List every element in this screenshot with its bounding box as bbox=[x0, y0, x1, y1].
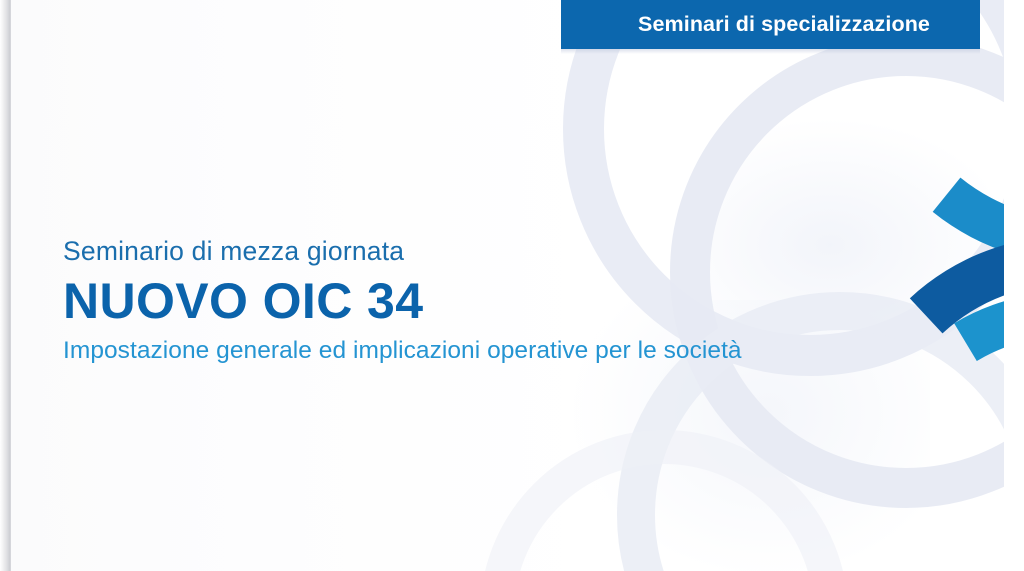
right-outer-margin bbox=[1014, 0, 1024, 571]
page-title: NUOVO OIC 34 bbox=[63, 274, 742, 328]
page-subtitle: Impostazione generale ed implicazioni op… bbox=[63, 337, 742, 365]
brochure-cover: Seminari di specializzazione Seminario d… bbox=[0, 0, 1024, 571]
seminar-category-banner: Seminari di specializzazione bbox=[561, 0, 980, 49]
banner-label: Seminari di specializzazione bbox=[638, 12, 930, 37]
banner-shadow bbox=[561, 49, 980, 54]
title-block: Seminario di mezza giornata NUOVO OIC 34… bbox=[63, 236, 742, 366]
seminar-kicker: Seminario di mezza giornata bbox=[63, 236, 742, 266]
page-sheet: Seminari di specializzazione Seminario d… bbox=[10, 0, 1004, 571]
page-gutter-shadow bbox=[0, 0, 11, 571]
